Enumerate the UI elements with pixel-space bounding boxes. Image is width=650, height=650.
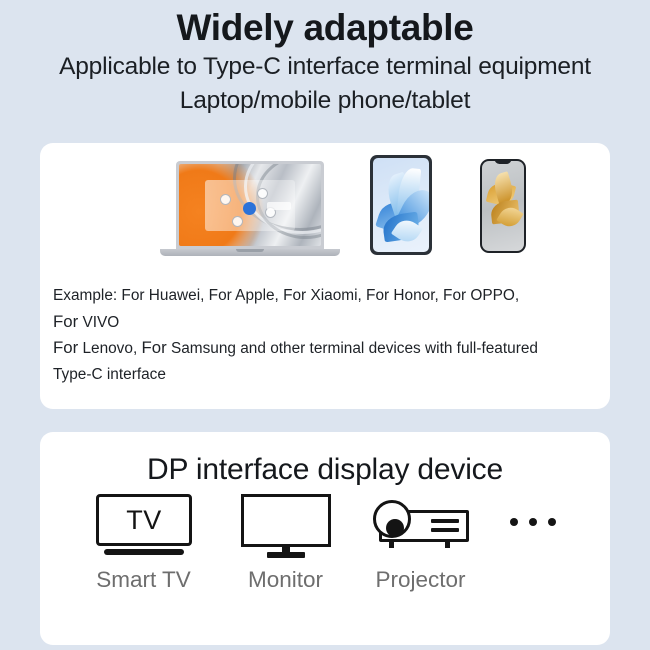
- dp-card-title: DP interface display device: [40, 452, 610, 488]
- overlay-icon: [257, 188, 268, 199]
- brands-line-2-lead: For: [53, 312, 78, 331]
- header-subtitle-1: Applicable to Type-C interface terminal …: [0, 50, 650, 84]
- header-subtitle-2: Laptop/mobile phone/tablet: [0, 84, 650, 118]
- laptop-screen: [176, 161, 324, 249]
- brands-line-1: Example: For Huawei, For Apple, For Xiao…: [53, 283, 601, 309]
- tablet-wallpaper: [373, 158, 429, 252]
- compatible-brands-text: Example: For Huawei, For Apple, For Xiao…: [53, 283, 601, 387]
- brands-line-2-rest: VIVO: [78, 314, 119, 331]
- phone-illustration: [480, 159, 526, 253]
- compatible-devices-card: Example: For Huawei, For Apple, For Xiao…: [40, 143, 610, 409]
- device-illustration-row: [40, 143, 610, 268]
- label-monitor: Monitor: [208, 565, 363, 595]
- monitor-icon: [241, 494, 331, 558]
- smart-tv-icon-cell: TV: [96, 494, 192, 556]
- projector-foot: [389, 542, 394, 548]
- overlay-center-icon: [243, 202, 256, 215]
- product-feature-graphic: Widely adaptable Applicable to Type-C in…: [0, 0, 650, 650]
- monitor-foot: [267, 552, 305, 558]
- projector-icon-cell: [373, 494, 469, 554]
- ellipsis-dot: [548, 518, 556, 526]
- tv-icon: TV: [96, 494, 192, 556]
- phone-notch: [495, 159, 512, 164]
- ellipsis-dot: [510, 518, 518, 526]
- dp-devices-card: DP interface display device TV: [40, 432, 610, 645]
- tablet-illustration: [370, 155, 432, 255]
- overlay-label-pill: [267, 202, 291, 210]
- dp-device-label-row: Smart TV Monitor Projector: [40, 565, 610, 605]
- header-block: Widely adaptable Applicable to Type-C in…: [0, 0, 650, 118]
- more-devices-indicator: [510, 518, 556, 526]
- label-smart-tv: Smart TV: [66, 565, 221, 595]
- monitor-screen: [241, 494, 331, 547]
- brands-line-3: For Lenovo, For Samsung and other termin…: [53, 335, 601, 362]
- ellipsis-dot: [529, 518, 537, 526]
- laptop-illustration: [160, 161, 340, 261]
- monitor-icon-cell: [241, 494, 331, 558]
- overlay-icon: [232, 216, 243, 227]
- overlay-icon: [220, 194, 231, 205]
- phone-wallpaper: [482, 161, 524, 251]
- brands-line-3-lead-2: For: [142, 338, 167, 357]
- brands-line-3-mid: Lenovo,: [78, 340, 141, 357]
- tv-icon-label: TV: [126, 507, 162, 534]
- label-projector: Projector: [343, 565, 498, 595]
- brands-line-4: Type-C interface: [53, 362, 601, 388]
- brands-line-2: For VIVO: [53, 309, 601, 336]
- dp-device-icon-row: TV: [40, 494, 610, 562]
- tv-stand: [104, 549, 184, 555]
- projector-vent: [431, 528, 459, 532]
- tv-screen: TV: [96, 494, 192, 546]
- laptop-hinge-notch: [236, 249, 264, 252]
- projector-lens-center: [386, 519, 404, 537]
- projector-lens: [373, 500, 411, 538]
- projector-vent: [431, 519, 459, 523]
- page-title: Widely adaptable: [0, 0, 650, 50]
- projector-foot: [445, 542, 450, 548]
- laptop-wallpaper: [179, 164, 321, 246]
- brands-line-3-rest: Samsung and other terminal devices with …: [167, 340, 538, 357]
- projector-icon: [373, 494, 469, 554]
- laptop-overlay-panel: [205, 180, 296, 231]
- brands-line-3-lead: For: [53, 338, 78, 357]
